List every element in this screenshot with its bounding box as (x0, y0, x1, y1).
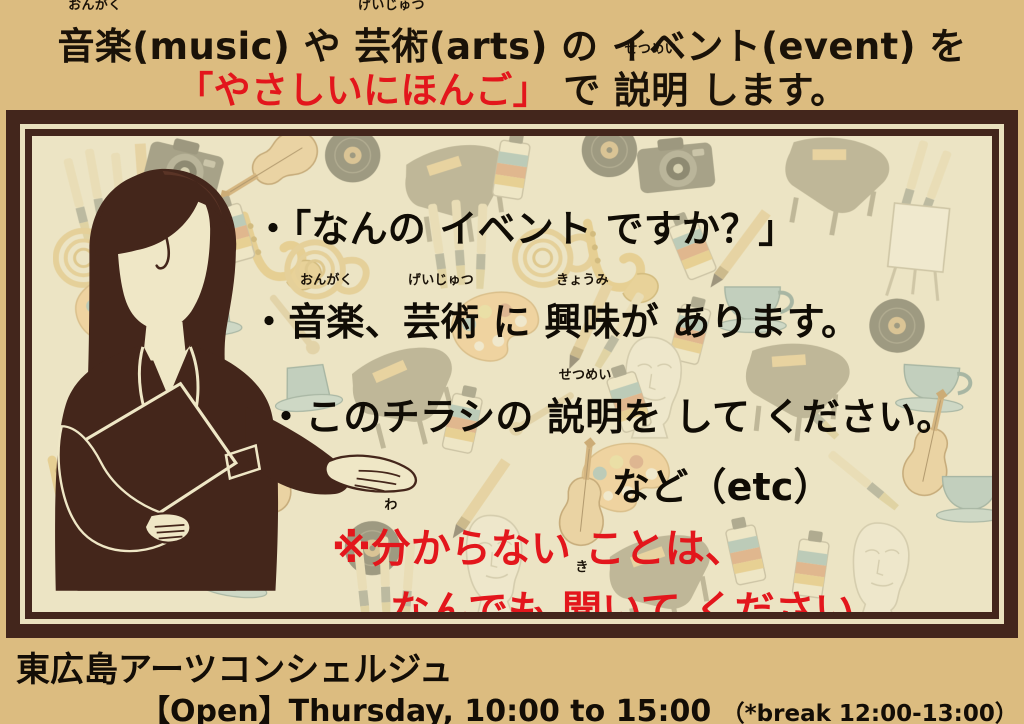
furigana-ongaku: おんがく (68, 0, 121, 12)
bullet-3-head: ・このチラシの (267, 395, 547, 439)
artwork-copy: ・「なんの イベント ですか？」 ・おんがく音楽、げいじゅつ芸術 に きょうみ興… (32, 136, 992, 612)
poster-header: おんがく音楽(music) や げいじゅつ芸術(arts) の イベント(eve… (0, 0, 1024, 110)
artwork-frame-outer: ・「なんの イベント ですか？」 ・おんがく音楽、げいじゅつ芸術 に きょうみ興… (6, 110, 1018, 638)
furigana-kyoumi-body: きょうみ (556, 274, 609, 287)
kanji-kyoumi-body: 興味 (544, 300, 620, 344)
kanji-ki: 聞 (562, 588, 602, 612)
ruby-kyoumi-body: きょうみ興味 (544, 291, 620, 346)
bullet-marker-2: ・ (250, 300, 288, 344)
bullet-2-tail: が あります。 (621, 300, 860, 344)
kanji-ongaku-body: 音楽 (288, 300, 364, 344)
ruby-setsumei-body: せつめい説明 (547, 386, 623, 441)
furigana-geijutsu-body: げいじゅつ (408, 274, 474, 287)
header-line-2: 「やさしいにほんご」 で せつめい説明 します。 (0, 60, 1024, 114)
particle-de: で (550, 69, 614, 112)
kanji-setsumei-body: 説明 (547, 395, 623, 439)
verb-shimasu: します。 (689, 69, 848, 112)
opening-hours-break-note: （*break 12:00-13:00） (722, 701, 1018, 724)
bullet-item-3: ・このチラシの せつめい説明を して ください。 (267, 386, 955, 441)
opening-hours: 【Open】Thursday, 10:00 to 15:00 （*break 1… (140, 686, 1018, 724)
artwork-canvas: ・「なんの イベント ですか？」 ・おんがく音楽、げいじゅつ芸術 に きょうみ興… (32, 136, 992, 612)
note-line-1: ※わ分からない ことは、 (332, 516, 745, 574)
kanji-wa: 分 (371, 526, 411, 572)
ruby-geijutsu-body: げいじゅつ芸術 (403, 291, 479, 346)
note-line-2-tail: いて ください。 (602, 588, 895, 612)
furigana-ongaku-body: おんがく (300, 274, 353, 287)
kanji-setsumei-header: 説明 (614, 69, 689, 112)
bullet-3-tail: を して ください。 (623, 395, 954, 439)
comma-body: 、 (365, 300, 403, 344)
etc-label: など（etc） (612, 456, 832, 511)
kanji-geijutsu-body: 芸術 (403, 300, 479, 344)
ruby-setsumei-header: せつめい説明 (614, 60, 689, 114)
ruby-wakaranai: わ分 (371, 516, 411, 574)
furigana-wa: わ (384, 499, 397, 512)
ruby-kiite: き聞 (562, 578, 602, 612)
header-highlight-yasashii-nihongo: 「やさしいにほんご」 (176, 69, 550, 112)
poster-root: おんがく音楽(music) や げいじゅつ芸術(arts) の イベント(eve… (0, 0, 1024, 724)
note-line-2-head: なんでも (390, 588, 562, 612)
bullet-item-2: ・おんがく音楽、げいじゅつ芸術 に きょうみ興味が あります。 (250, 291, 859, 346)
ruby-ongaku-body: おんがく音楽 (288, 291, 364, 346)
furigana-geijutsu: げいじゅつ (358, 0, 425, 12)
note-marker: ※ (332, 526, 371, 572)
poster-footer: 東広島アーツコンシェルジュ 【Open】Thursday, 10:00 to 1… (0, 638, 1024, 724)
bullet-item-1: ・「なんの イベント ですか？」 (254, 198, 797, 253)
artwork-frame-middle: ・「なんの イベント ですか？」 ・おんがく音楽、げいじゅつ芸術 に きょうみ興… (20, 124, 1004, 624)
opening-hours-main: 【Open】Thursday, 10:00 to 15:00 (140, 694, 711, 724)
furigana-setsumei-header: せつめい (625, 43, 678, 56)
artwork-frame-inner: ・「なんの イベント ですか？」 ・おんがく音楽、げいじゅつ芸術 に きょうみ興… (25, 129, 999, 619)
organization-name: 東広島アーツコンシェルジュ (16, 642, 453, 691)
furigana-setsumei-body: せつめい (559, 369, 612, 382)
furigana-ki: き (575, 561, 588, 574)
particle-ni-body: に (479, 300, 544, 344)
note-line-2: なんでも き聞いて ください。 (390, 578, 895, 612)
